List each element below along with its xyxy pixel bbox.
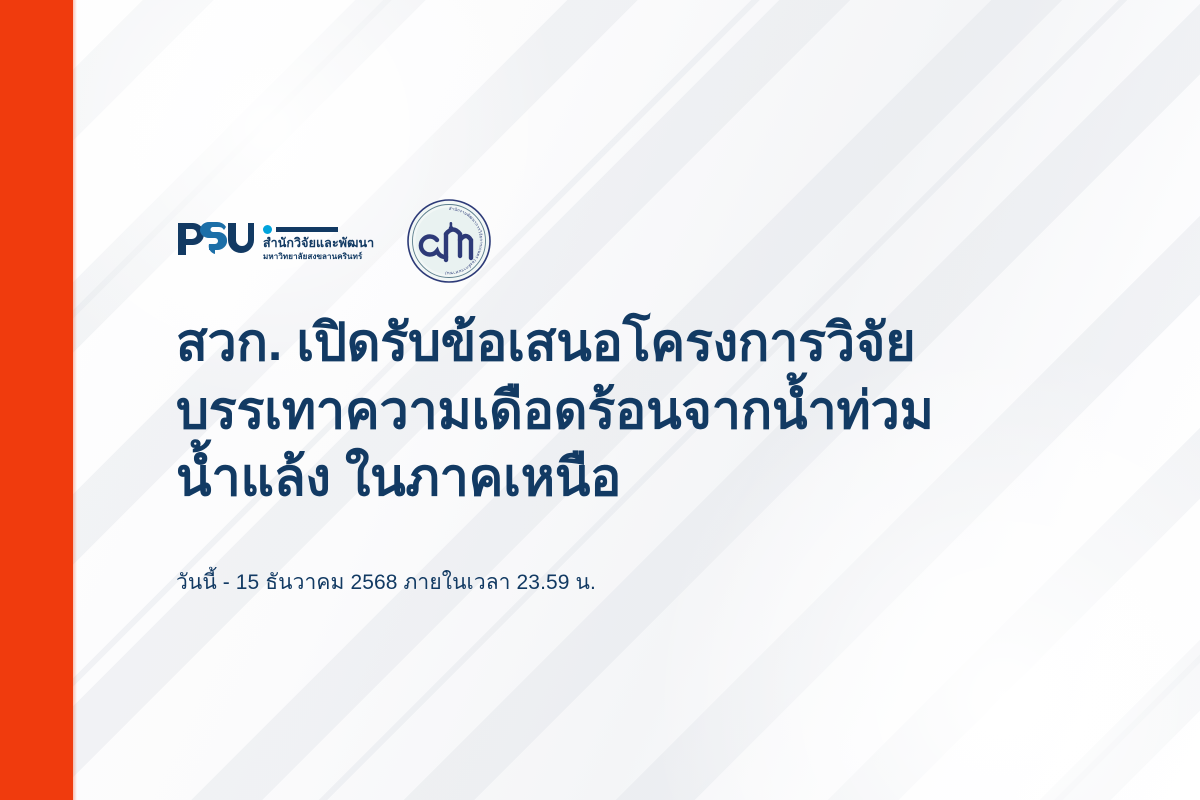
left-orange-accent-bar [0,0,73,800]
logo-row: สำนักวิจัยและพัฒนา มหาวิทยาลัยสงขลานคริน… [176,198,492,284]
psu-rule-bar [276,227,338,232]
submission-deadline-text: วันนี้ - 15 ธันวาคม 2568 ภายในเวลา 23.59… [176,566,596,599]
psu-monogram-icon [176,217,254,266]
psu-logo-lockup: สำนักวิจัยและพัฒนา มหาวิทยาลัยสงขลานคริน… [176,217,374,266]
page-title: สวก. เปิดรับข้อเสนอโครงการวิจัย บรรเทาคว… [176,310,1036,513]
psu-rule-row [263,225,374,234]
poster-content: สำนักวิจัยและพัฒนา มหาวิทยาลัยสงขลานคริน… [176,0,1076,800]
psu-dot-icon [263,225,272,234]
poster-canvas: สำนักวิจัยและพัฒนา มหาวิทยาลัยสงขลานคริน… [0,0,1200,800]
arda-seal-logo: สำนักงานพัฒนาการวิจัยการเกษตร (องค์การมห… [406,198,492,284]
headline-line-1: สวก. เปิดรับข้อเสนอโครงการวิจัย [176,310,1036,378]
left-orange-accent-bar-edge [73,0,77,800]
psu-office-name: สำนักวิจัยและพัฒนา [263,237,374,251]
headline-line-2: บรรเทาความเดือดร้อนจากน้ำท่วม [176,378,1036,446]
headline-line-3: น้ำแล้ง ในภาคเหนือ [176,445,1036,513]
psu-university-name: มหาวิทยาลัยสงขลานครินทร์ [263,252,374,261]
psu-text-block: สำนักวิจัยและพัฒนา มหาวิทยาลัยสงขลานคริน… [263,221,374,261]
